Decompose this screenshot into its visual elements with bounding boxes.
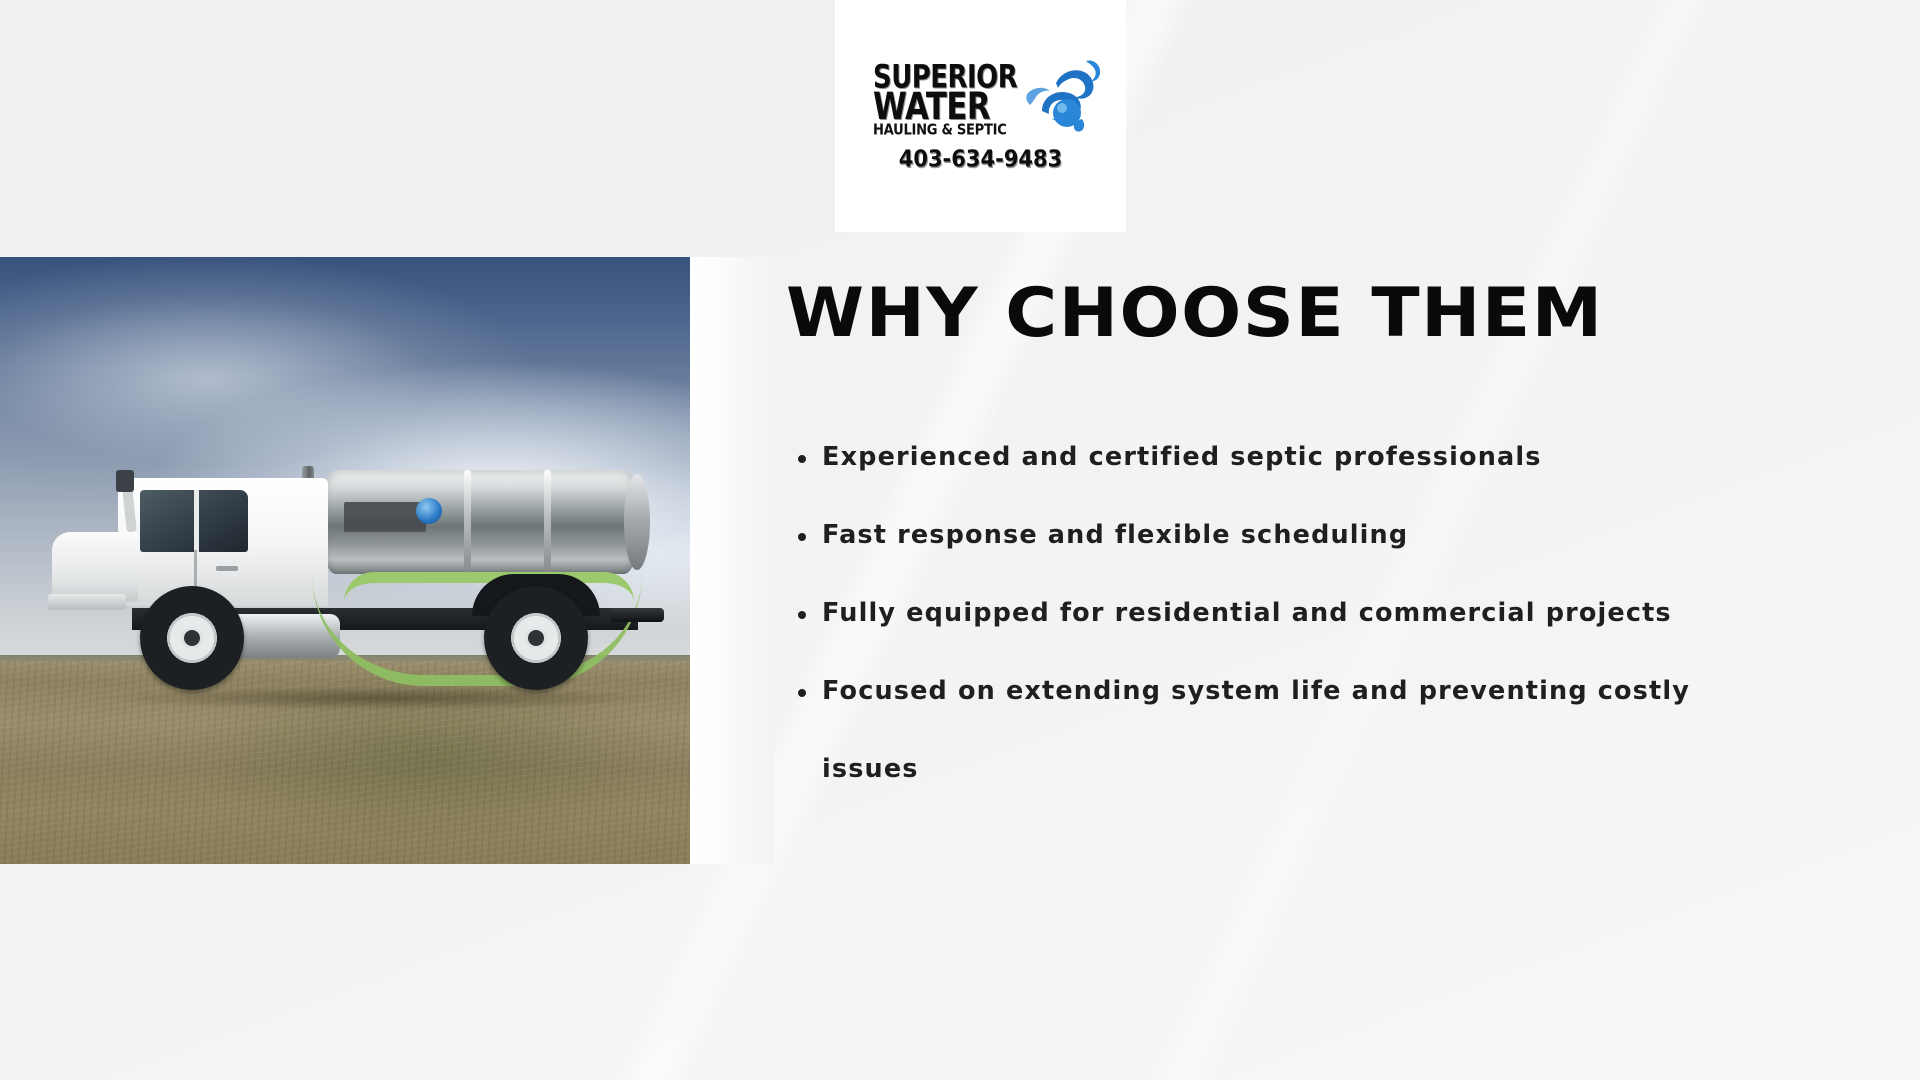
logo-subtitle: HAULING & SEPTIC	[873, 125, 1082, 137]
rear-discharge-pipe	[610, 608, 664, 622]
logo-wordmark: SUPERIOR WATER HAULING & SEPTIC	[873, 67, 1088, 137]
tank-decal-splash-icon	[416, 498, 442, 524]
list-item: Experienced and certified septic profess…	[786, 418, 1796, 496]
rear-wheel-hub	[525, 627, 547, 649]
front-wheel-hub	[181, 627, 203, 649]
truck-photo	[0, 257, 690, 864]
tank-band	[544, 470, 551, 574]
front-wheel	[140, 586, 244, 690]
tank-rear-cap	[624, 474, 650, 570]
page-title: WHY CHOOSE THEM	[786, 280, 1888, 348]
logo-line-water: WATER	[873, 91, 1079, 123]
tank-decal	[344, 502, 426, 532]
tank-band	[464, 470, 471, 574]
list-item: Fast response and flexible scheduling	[786, 496, 1796, 574]
truck-bumper	[48, 594, 126, 610]
truck-window-divider	[194, 490, 199, 552]
truck-mirror	[116, 470, 134, 492]
list-item: Focused on extending system life and pre…	[786, 652, 1796, 808]
septic-truck-illustration	[44, 462, 654, 722]
benefits-list: Experienced and certified septic profess…	[786, 418, 1846, 808]
content-column: WHY CHOOSE THEM Experienced and certifie…	[786, 280, 1846, 808]
truck-door-handle	[216, 566, 238, 571]
truck-hood	[52, 532, 138, 602]
logo-phone-number: 403-634-9483	[873, 146, 1088, 172]
logo-inner: SUPERIOR WATER HAULING & SEPTIC 403-634-…	[873, 67, 1088, 172]
photo-edge-fade	[690, 257, 774, 864]
rear-wheel	[484, 586, 588, 690]
company-logo-card: SUPERIOR WATER HAULING & SEPTIC 403-634-…	[835, 0, 1126, 232]
list-item: Fully equipped for residential and comme…	[786, 574, 1796, 652]
